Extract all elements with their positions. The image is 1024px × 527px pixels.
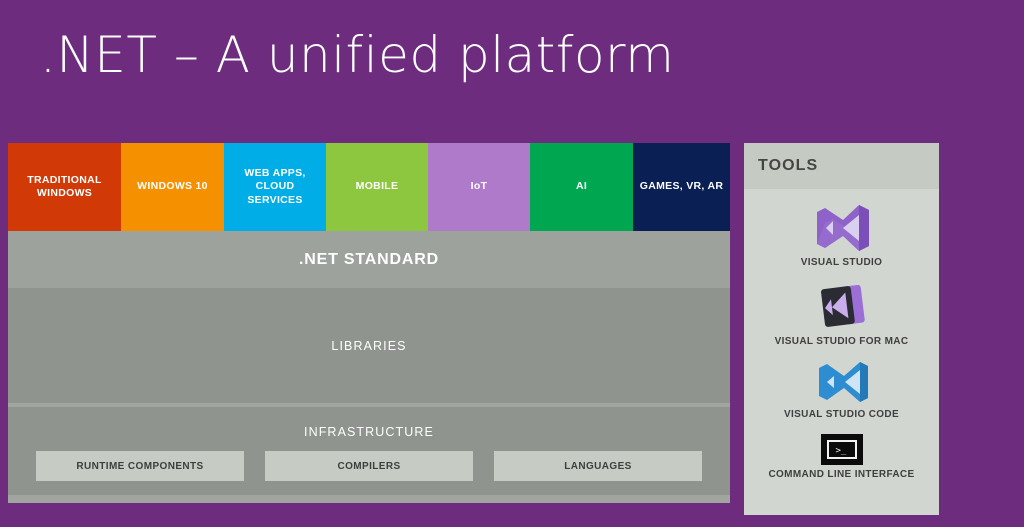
net-standard-label: .NET STANDARD [299,251,439,269]
workload-tile-label: AI [576,180,587,193]
command-line-icon: >_ [821,434,863,465]
infrastructure-box-label: LANGUAGES [564,461,632,472]
workload-tile-label: IoT [471,180,488,193]
workload-tile-traditional-windows[interactable]: TRADITIONAL WINDOWS [8,143,121,231]
tool-item-visual-studio[interactable]: VISUAL STUDIO [744,201,939,268]
platform-stack-panel: TRADITIONAL WINDOWS WINDOWS 10 WEB APPS,… [8,143,730,503]
libraries-layer[interactable]: LIBRARIES [8,288,730,403]
workload-tile-ai[interactable]: AI [530,143,633,231]
tool-item-label: VISUAL STUDIO [801,257,883,268]
stack-footer-strip [8,495,730,503]
workload-tile-row: TRADITIONAL WINDOWS WINDOWS 10 WEB APPS,… [8,143,730,231]
infrastructure-box-compilers[interactable]: COMPILERS [265,451,473,481]
workload-tile-games-vr-ar[interactable]: GAMES, VR, AR [633,143,730,231]
slide-canvas: .NET – A unified platform TRADITIONAL WI… [0,0,1024,527]
visual-studio-code-icon [813,359,871,405]
stack-layers: .NET STANDARD LIBRARIES INFRASTRUCTURE R… [8,231,730,503]
infrastructure-label: INFRASTRUCTURE [8,425,730,439]
workload-tile-label: TRADITIONAL WINDOWS [12,174,117,200]
infrastructure-box-label: RUNTIME COMPONENTS [76,461,203,472]
tools-list: VISUAL STUDIO VISUAL STUDIO FOR MAC [744,189,939,480]
workload-tile-web-apps-cloud-services[interactable]: WEB APPS, CLOUD SERVICES [224,143,326,231]
tool-item-visual-studio-code[interactable]: VISUAL STUDIO CODE [744,359,939,420]
infrastructure-box-row: RUNTIME COMPONENTS COMPILERS LANGUAGES [36,451,702,481]
workload-tile-iot[interactable]: IoT [428,143,530,231]
tools-header-label: TOOLS [758,157,818,175]
net-standard-layer[interactable]: .NET STANDARD [8,231,730,288]
visual-studio-for-mac-icon [813,282,871,332]
tool-item-label: VISUAL STUDIO CODE [784,409,899,420]
tools-panel-header: TOOLS [744,143,939,189]
workload-tile-label: GAMES, VR, AR [640,180,723,193]
infrastructure-layer[interactable]: INFRASTRUCTURE RUNTIME COMPONENTS COMPIL… [8,407,730,495]
libraries-label: LIBRARIES [331,339,406,353]
tool-item-command-line-interface[interactable]: >_ COMMAND LINE INTERFACE [744,434,939,480]
workload-tile-label: WEB APPS, CLOUD SERVICES [228,167,322,206]
tool-item-label: COMMAND LINE INTERFACE [768,469,914,480]
workload-tile-label: MOBILE [356,180,399,193]
workload-tile-windows-10[interactable]: WINDOWS 10 [121,143,224,231]
infrastructure-box-languages[interactable]: LANGUAGES [494,451,702,481]
workload-tile-label: WINDOWS 10 [137,180,208,193]
tool-item-visual-studio-for-mac[interactable]: VISUAL STUDIO FOR MAC [744,282,939,347]
tool-item-label: VISUAL STUDIO FOR MAC [775,336,909,347]
tools-panel: TOOLS VISUAL STUDIO [744,143,939,515]
infrastructure-box-label: COMPILERS [337,461,400,472]
visual-studio-icon [813,201,871,253]
workload-tile-mobile[interactable]: MOBILE [326,143,428,231]
infrastructure-box-runtime-components[interactable]: RUNTIME COMPONENTS [36,451,244,481]
page-title: .NET – A unified platform [40,26,674,84]
